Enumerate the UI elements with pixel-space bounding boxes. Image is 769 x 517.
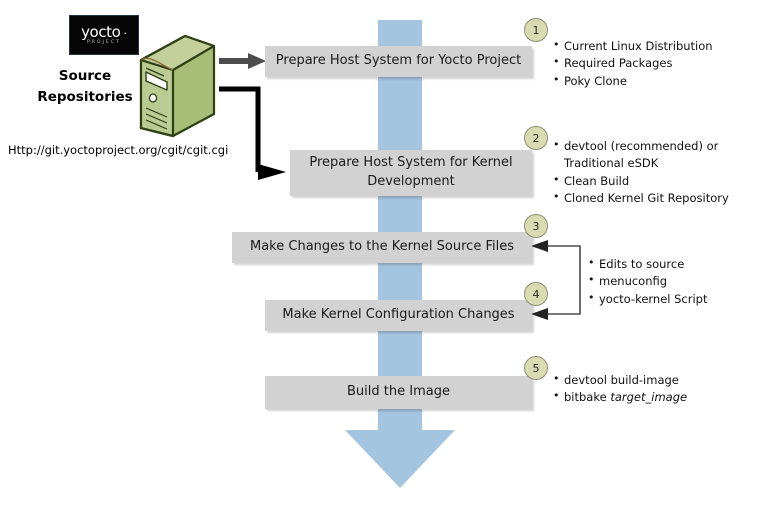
source-repository-url: Http://git.yoctoproject.org/cgit/cgit.cg…	[8, 143, 228, 157]
list-item: Poky Clone	[553, 73, 713, 90]
bullet-list-step-1: Current Linux Distribution Required Pack…	[553, 38, 713, 90]
list-item: bitbake target_image	[553, 389, 687, 406]
list-item: Edits to source	[588, 256, 708, 273]
list-item: devtool build-image	[553, 372, 687, 389]
flow-spine-arrowhead	[345, 430, 455, 488]
server-tower-icon	[133, 32, 219, 142]
list-item: menuconfig	[588, 273, 708, 290]
list-item: Required Packages	[553, 55, 713, 72]
flow-spine-arrow	[378, 20, 422, 432]
process-box-step-4[interactable]: Make Kernel Configuration Changes	[265, 300, 532, 331]
list-item: devtool (recommended) or Traditional eSD…	[553, 138, 733, 173]
source-repositories-label: Source Repositories	[30, 66, 140, 108]
process-box-step-1[interactable]: Prepare Host System for Yocto Project	[265, 46, 532, 77]
source-label-line1: Source	[30, 66, 140, 87]
list-item: yocto-kernel Script	[588, 291, 708, 308]
yocto-project-logo: yocto · PROJECT	[69, 15, 139, 55]
bullet-list-step-5: devtool build-image bitbake target_image	[553, 372, 687, 407]
logo-dot-icon: ·	[123, 27, 127, 40]
diagram-canvas: yocto · PROJECT Source Repositories Http…	[0, 0, 769, 517]
process-box-step-5[interactable]: Build the Image	[265, 376, 532, 409]
step-badge-1: 1	[524, 18, 548, 42]
list-item: Clean Build	[553, 173, 733, 190]
bullet-list-steps-3-and-4: Edits to source menuconfig yocto-kernel …	[588, 256, 708, 308]
process-box-step-2[interactable]: Prepare Host System for Kernel Developme…	[290, 150, 532, 196]
step-badge-2: 2	[524, 126, 548, 150]
step-badge-5: 5	[524, 356, 548, 380]
bitbake-target-argument: target_image	[610, 390, 687, 404]
list-item: Current Linux Distribution	[553, 38, 713, 55]
list-item: Cloned Kernel Git Repository	[553, 190, 733, 207]
source-label-line2: Repositories	[30, 87, 140, 108]
process-box-step-3[interactable]: Make Changes to the Kernel Source Files	[232, 232, 532, 263]
logo-wordmark: yocto	[81, 25, 120, 40]
logo-subtitle: PROJECT	[87, 41, 121, 45]
bullet-list-step-2: devtool (recommended) or Traditional eSD…	[553, 138, 733, 208]
step-badge-3: 3	[524, 214, 548, 238]
step-badge-4: 4	[524, 282, 548, 306]
bitbake-command-prefix: bitbake	[564, 390, 610, 404]
